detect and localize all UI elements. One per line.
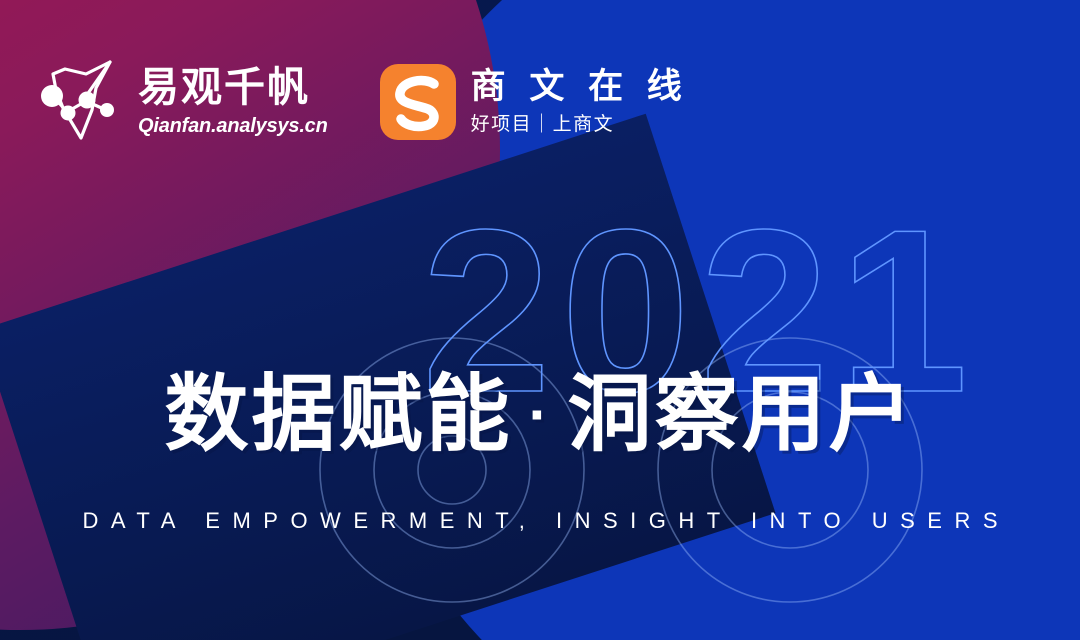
headline: 数据赋能·洞察用户 xyxy=(0,372,1080,456)
shangwen-logo[interactable]: 商 文 在 线 好项目｜上商文 xyxy=(380,64,689,140)
shangwen-logo-text: 商 文 在 线 好项目｜上商文 xyxy=(471,66,689,139)
logo-row: 易观千帆 Qianfan.analysys.cn 商 文 在 线 好项目｜上商文 xyxy=(34,52,689,152)
qianfan-cn-name: 易观千帆 xyxy=(138,65,328,111)
qianfan-sail-network-logo-icon xyxy=(34,52,126,152)
shangwen-s-icon xyxy=(380,64,456,140)
qianfan-logo-text: 易观千帆 Qianfan.analysys.cn xyxy=(138,65,328,139)
headline-left: 数据赋能 xyxy=(164,367,512,461)
qianfan-domain: Qianfan.analysys.cn xyxy=(138,113,328,139)
subtitle: DATA EMPOWERMENT, INSIGHT INTO USERS xyxy=(0,508,1080,534)
headline-right: 洞察用户 xyxy=(567,367,915,461)
shangwen-cn-name: 商 文 在 线 xyxy=(471,66,689,107)
marketing-banner: 2021 易观千帆 Qianfa xyxy=(0,0,1080,640)
shangwen-s-brushstroke xyxy=(380,64,456,140)
qianfan-logo[interactable]: 易观千帆 Qianfan.analysys.cn xyxy=(34,52,328,152)
shangwen-tagline: 好项目｜上商文 xyxy=(471,112,689,139)
headline-separator: · xyxy=(529,385,552,445)
